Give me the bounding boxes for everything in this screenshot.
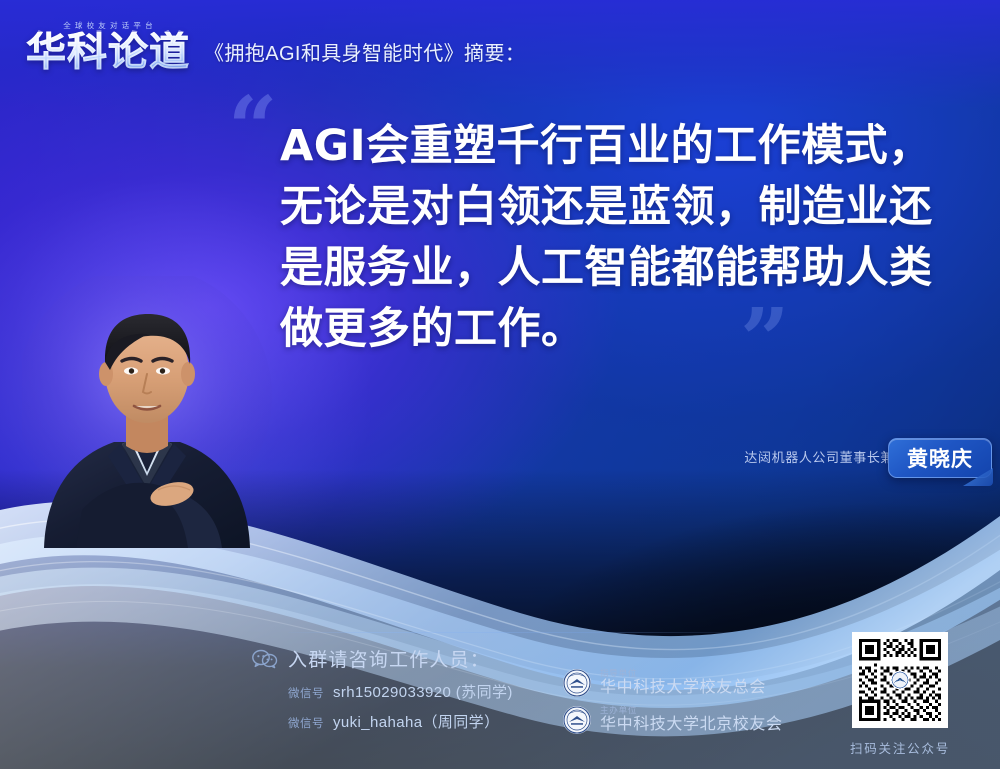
university-seal-icon — [562, 705, 592, 735]
footer-heading: 入群请咨询工作人员： — [288, 645, 490, 672]
organization-row: 指导单位 华中科技大学校友总会 — [562, 668, 783, 698]
contact-label: 微信号 — [288, 685, 324, 701]
university-seal-icon — [562, 668, 592, 698]
qr-caption: 扫码关注公众号 — [838, 738, 962, 757]
footer-divider — [288, 632, 776, 633]
organization-kind: 指导单位 — [600, 669, 766, 678]
organization-name: 华中科技大学校友总会 — [600, 679, 766, 696]
quote-text: AGI会重塑千行百业的工作模式，无论是对白领还是蓝领，制造业还是服务业，人工智能… — [280, 116, 940, 360]
organization-kind: 主办单位 — [600, 706, 783, 715]
speaker-portrait — [22, 276, 272, 548]
brand-logo: 全球校友对话平台 华科论道 — [26, 20, 190, 72]
organization-text: 主办单位 华中科技大学北京校友会 — [600, 706, 783, 733]
header-bar: 全球校友对话平台 华科论道 《拥抱AGI和具身智能时代》摘要： — [0, 0, 1000, 92]
organization-row: 主办单位 华中科技大学北京校友会 — [562, 705, 783, 735]
contact-label: 微信号 — [288, 715, 324, 731]
contact-value: yuki_hahaha（周同学） — [333, 711, 499, 732]
page-title: 《拥抱AGI和具身智能时代》摘要： — [204, 27, 525, 66]
organization-list: 指导单位 华中科技大学校友总会 主办单位 华中科技大学北京校友会 — [562, 668, 783, 742]
organization-text: 指导单位 华中科技大学校友总会 — [600, 669, 766, 696]
organization-name: 华中科技大学北京校友会 — [600, 716, 783, 733]
qr-code[interactable] — [852, 632, 948, 728]
brand-name: 华科论道 — [26, 32, 190, 72]
contact-value: srh15029033920 (苏同学) — [333, 681, 513, 702]
qr-block: 扫码关注公众号 — [838, 632, 962, 757]
speaker-name-badge: 黄晓庆 — [888, 438, 992, 478]
poster-root: 全球校友对话平台 华科论道 《拥抱AGI和具身智能时代》摘要： — [0, 0, 1000, 769]
wechat-icon — [252, 649, 278, 669]
